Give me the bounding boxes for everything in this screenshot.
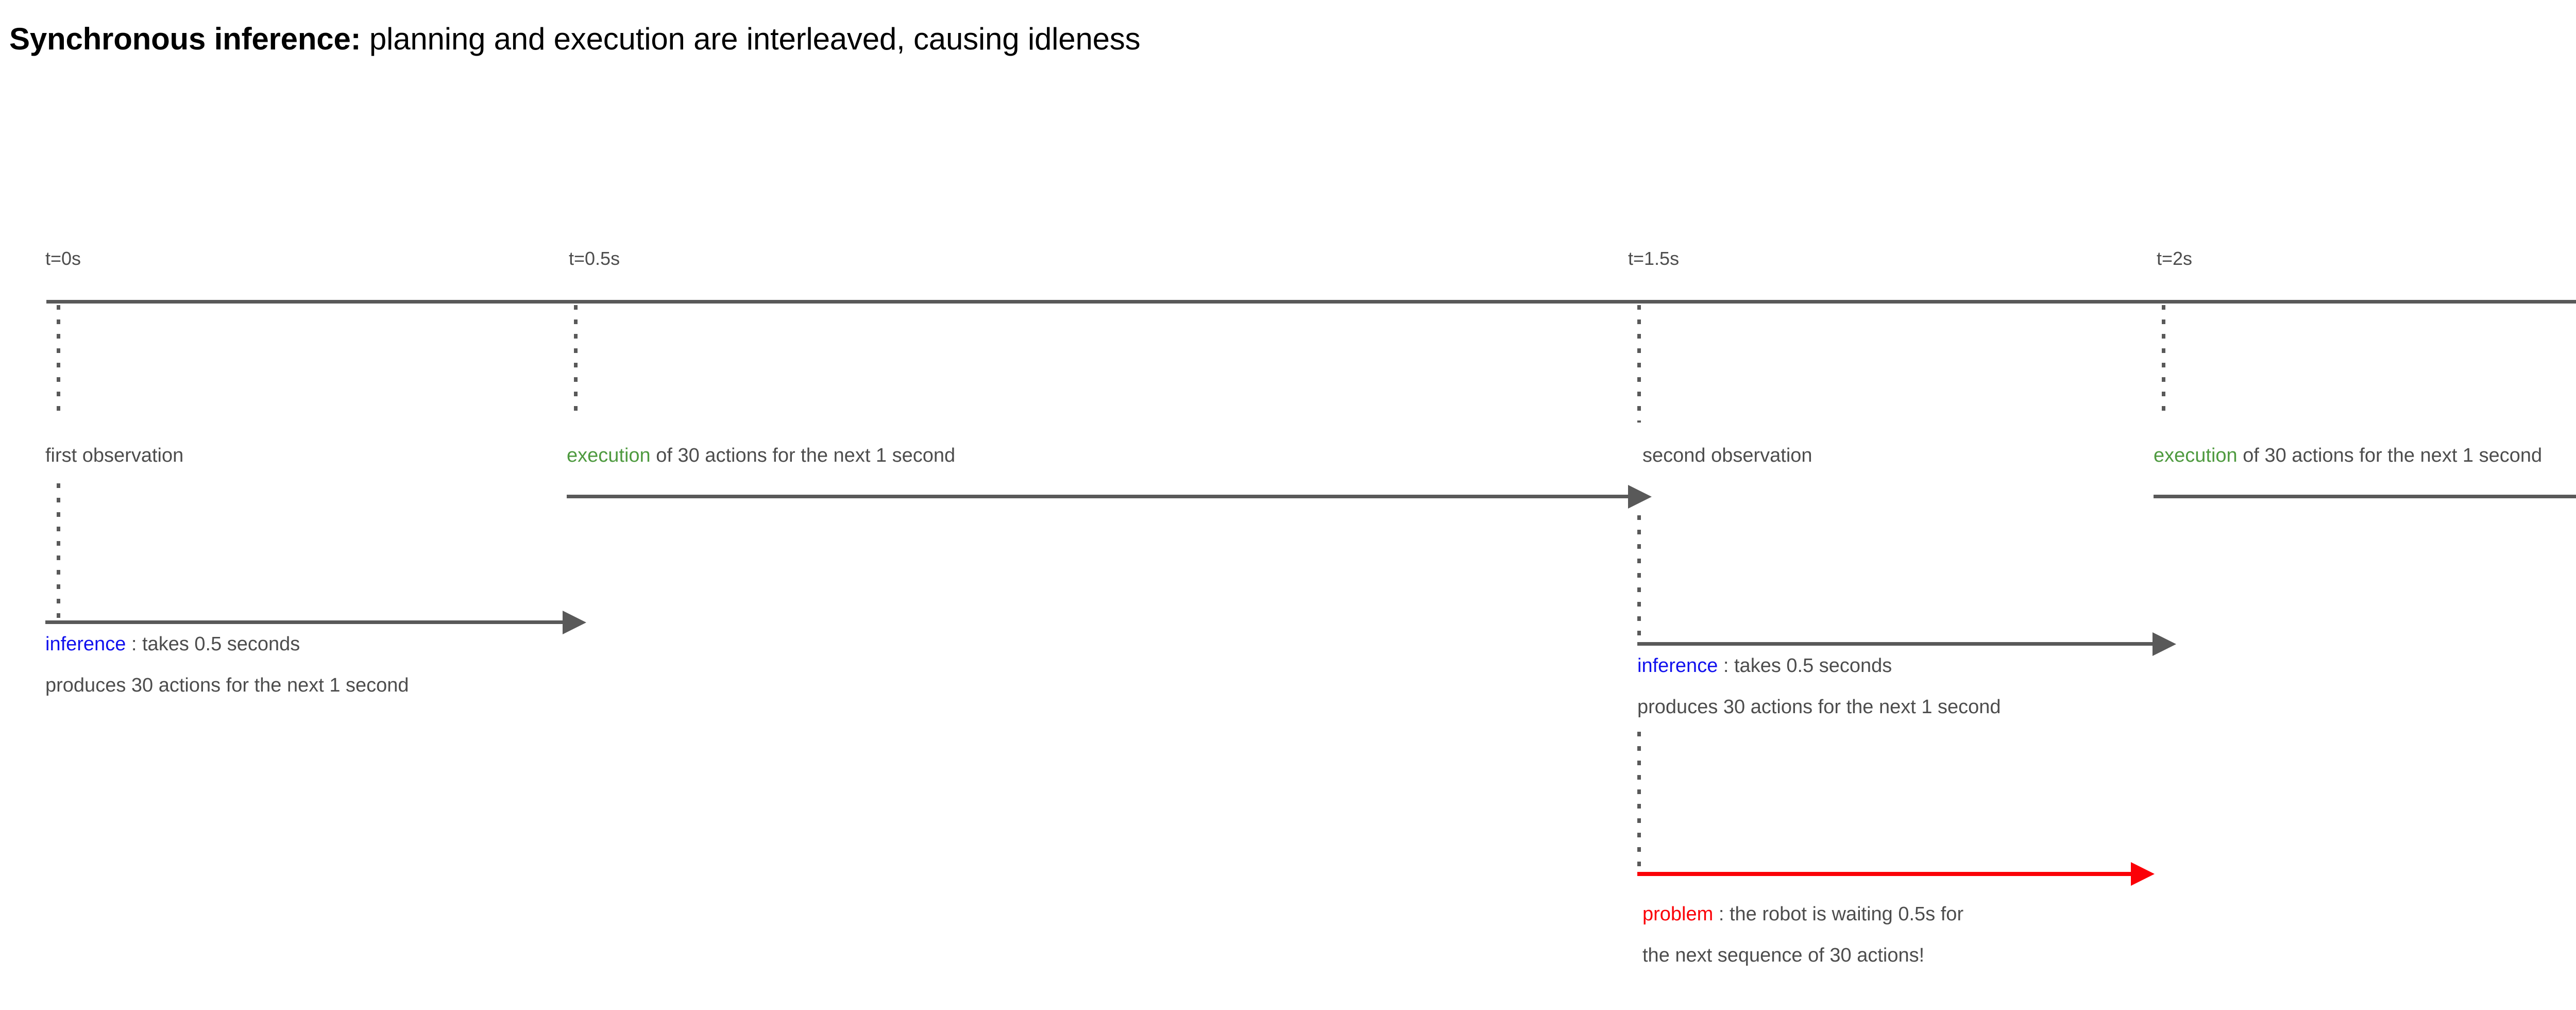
- inference-1-line1-rest: : takes 0.5 seconds: [126, 633, 300, 655]
- problem-arrow-line: [1637, 872, 2132, 876]
- second-observation-label: second observation: [1642, 444, 1812, 467]
- execution-1-rest: of 30 actions for the next 1 second: [651, 445, 956, 466]
- tick-label-t2: t=2s: [2157, 247, 2192, 270]
- problem-line2: the next sequence of 30 actions!: [1642, 944, 1924, 967]
- inference-1-arrow-line: [45, 620, 564, 624]
- dotted-guide-t05: [574, 305, 578, 419]
- inference-2-arrowhead: [2153, 632, 2176, 656]
- problem-arrowhead: [2131, 862, 2155, 886]
- page-title-strong: Synchronous inference:: [9, 22, 361, 56]
- execution-2-label: execution of 30 actions for the next 1 s…: [2154, 444, 2542, 467]
- problem-keyword: problem: [1642, 903, 1713, 925]
- inference-1-line1: inference : takes 0.5 seconds: [45, 633, 300, 655]
- inference-1-arrowhead: [563, 611, 586, 634]
- first-observation-label: first observation: [45, 444, 183, 467]
- dotted-guide-t0-lower: [57, 483, 60, 621]
- execution-1-label: execution of 30 actions for the next 1 s…: [567, 444, 955, 467]
- inference-1-keyword: inference: [45, 633, 126, 655]
- inference-2-line1: inference : takes 0.5 seconds: [1637, 654, 1892, 677]
- inference-2-arrow-line: [1637, 642, 2154, 646]
- dotted-guide-t0-upper: [57, 305, 60, 419]
- inference-2-keyword: inference: [1637, 655, 1718, 677]
- inference-2-line1-rest: : takes 0.5 seconds: [1718, 655, 1892, 677]
- execution-2-keyword: execution: [2154, 445, 2238, 466]
- dotted-guide-t2: [2162, 305, 2165, 419]
- execution-2-arrow-line: [2154, 495, 2576, 498]
- problem-line1-rest: : the robot is waiting 0.5s for: [1713, 903, 1963, 925]
- dotted-guide-t15-mid: [1637, 515, 1641, 643]
- problem-line1: problem : the robot is waiting 0.5s for: [1642, 903, 1963, 925]
- tick-label-t0: t=0s: [45, 247, 81, 270]
- page-title: Synchronous inference: planning and exec…: [9, 21, 1140, 58]
- inference-1-line2: produces 30 actions for the next 1 secon…: [45, 674, 409, 697]
- diagram-canvas: Synchronous inference: planning and exec…: [0, 0, 2576, 1010]
- inference-2-line2: produces 30 actions for the next 1 secon…: [1637, 696, 2001, 718]
- execution-1-arrow-line: [567, 495, 1629, 498]
- timeline-axis: [46, 300, 2576, 304]
- execution-1-arrowhead: [1628, 485, 1652, 509]
- tick-label-t15: t=1.5s: [1628, 247, 1679, 270]
- tick-label-t05: t=0.5s: [569, 247, 620, 270]
- execution-1-keyword: execution: [567, 445, 651, 466]
- dotted-guide-t15-lower: [1637, 732, 1641, 871]
- execution-2-rest: of 30 actions for the next 1 second: [2238, 445, 2543, 466]
- page-title-rest: planning and execution are interleaved, …: [361, 22, 1140, 56]
- dotted-guide-t15-upper: [1637, 305, 1641, 423]
